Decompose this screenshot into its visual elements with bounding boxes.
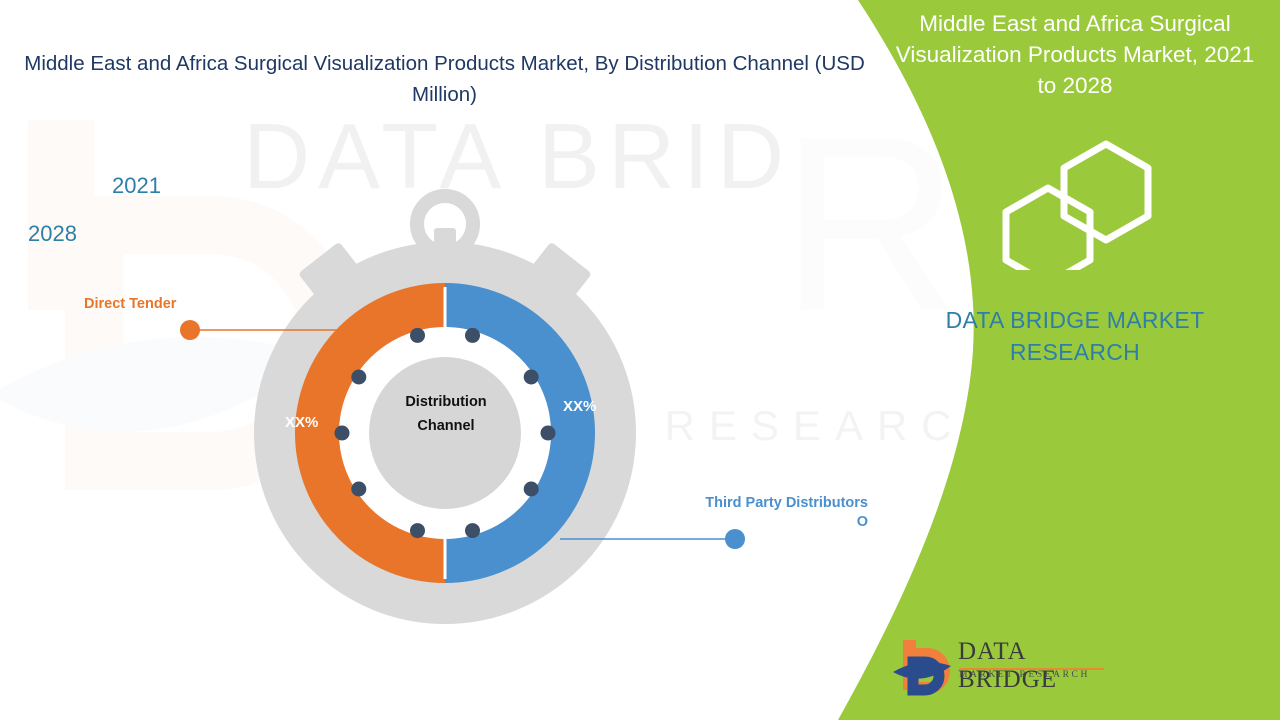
infographic-canvas: RID DATA BRID T RESEARCH Middle East and…: [0, 0, 1280, 720]
logo-wordmark: DATA BRIDGE: [958, 638, 1108, 694]
hexagon-label-2021: 2021: [112, 173, 161, 199]
callout-dot-left: [180, 320, 200, 340]
hexagon-2021: [1064, 144, 1148, 240]
slice-value-direct-tender: XX%: [285, 414, 318, 431]
callout-label-third-party-distributors[interactable]: Third Party Distributors O: [648, 494, 868, 532]
company-logo[interactable]: DATA BRIDGE MARKET RESEARCH: [893, 632, 1108, 702]
hexagon-group: [988, 140, 1188, 270]
callout-label-third-party-name: Third Party Distributors: [705, 495, 868, 511]
page-title: Middle East and Africa Surgical Visualiz…: [22, 48, 867, 110]
callout-label-direct-tender[interactable]: Direct Tender: [84, 295, 176, 314]
panel-title: Middle East and Africa Surgical Visualiz…: [890, 8, 1260, 101]
slice-value-third-party-distributors: XX%: [563, 398, 596, 415]
logo-mark-icon: [893, 634, 955, 696]
hexagon-2028: [1006, 188, 1090, 270]
logo-subtitle: MARKET RESEARCH: [959, 670, 1090, 680]
slice-divider-top: [444, 287, 447, 331]
slice-divider-bottom: [444, 535, 447, 579]
callout-dot-right: [725, 529, 745, 549]
donut-center-label: Distribution Channel: [376, 390, 516, 438]
brand-name: DATA BRIDGE MARKET RESEARCH: [890, 304, 1260, 368]
hexagon-label-2028: 2028: [28, 221, 77, 247]
green-panel-content: Middle East and Africa Surgical Visualiz…: [880, 0, 1280, 720]
callout-label-third-party-extra: O: [857, 514, 868, 530]
hexagon-outlines-svg: [988, 140, 1188, 270]
